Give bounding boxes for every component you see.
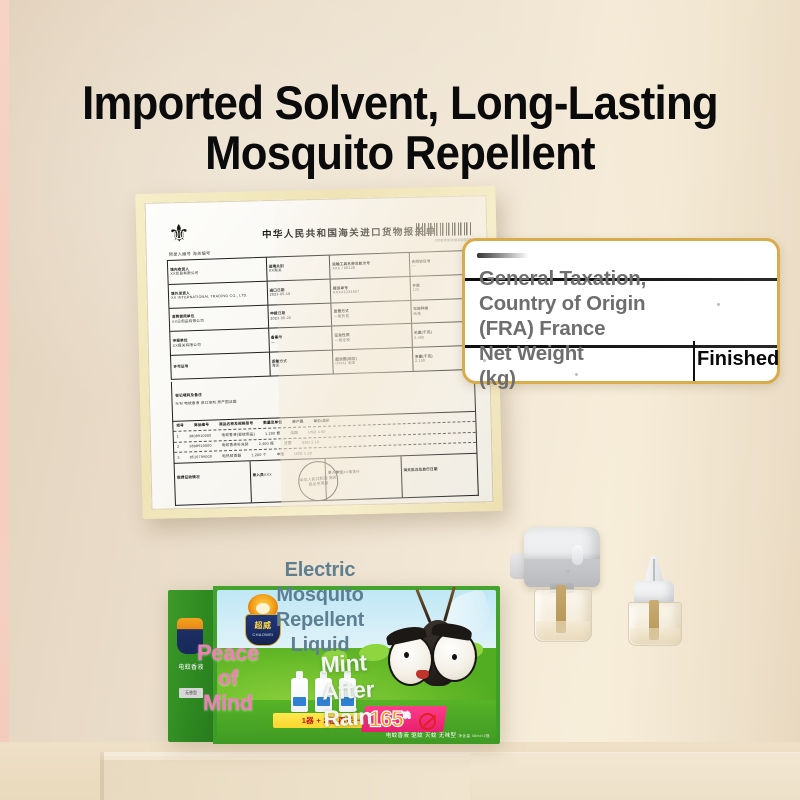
declaration-main-grid: 境内收货人XX贸易有限公司 境外发货人XX INTERNATIONAL TRAD… <box>167 250 475 380</box>
footer-label: 海关批注及放行日期 <box>403 467 437 472</box>
framed-customs-declaration: ⚜ 中华人民共和国海关进口货物报关单 0000000000000 预录入编号 海… <box>135 186 502 519</box>
pedestal-side-shadow <box>100 752 104 800</box>
box-bottom-text: 电蚊香液 驱蚊 灭蚊 无味型 净含量 45ml×2瓶 <box>386 731 490 739</box>
item-price: USD 1.20 <box>294 451 312 456</box>
item-no: 3 <box>177 455 179 460</box>
grid-column: 境内收货人XX贸易有限公司 境外发货人XX INTERNATIONAL TRAD… <box>168 258 270 379</box>
product-marketing-scene: Imported Solvent, Long-Lasting Mosquito … <box>0 0 800 800</box>
device-bottle-liquid <box>536 621 590 640</box>
overlay-peace-of-mind: Peace of Mind <box>173 640 283 715</box>
document-paper: ⚜ 中华人民共和国海关进口货物报关单 0000000000000 预录入编号 海… <box>145 195 494 510</box>
grid-cell: 申报单位XX报关有限公司 <box>170 329 268 356</box>
footer-value: XXX <box>264 473 272 477</box>
barcode <box>416 222 472 236</box>
grid-cell: 境内收货人XX贸易有限公司 <box>168 258 266 285</box>
grid-cell: 消费使用单位XX日用品有限公司 <box>169 305 267 332</box>
cell-value: XX海关 <box>269 267 328 274</box>
col-origin: 原产国 <box>292 420 304 425</box>
item-price: USD 2.10 <box>302 440 320 445</box>
callout-box: General Taxation, Country of Origin (FRA… <box>462 238 780 384</box>
note-value: N/M 电蚊香液 进口溶剂 原产国法国 <box>176 392 472 406</box>
col-no: 项号 <box>176 424 184 429</box>
grid-cell: 运输方式海运 <box>270 351 333 376</box>
grid-cell: 进境关别XX海关 <box>266 256 329 282</box>
item-price: USD 4.50 <box>308 429 326 434</box>
item-origin: 法国 <box>284 441 292 446</box>
grid-column: 进境关别XX海关 进口日期2023-05-18 申报日期2023-05-20 备… <box>266 256 333 376</box>
box-bottom-main: 电蚊香液 驱蚊 灭蚊 无味型 <box>386 733 457 739</box>
grid-cell: 申报日期2023-05-20 <box>268 303 331 329</box>
col-code: 商品编号 <box>194 423 209 428</box>
callout-dot <box>717 303 720 306</box>
left-accent-strip <box>0 0 9 800</box>
grid-cell: 备案号— <box>269 327 332 353</box>
grid-cell: 提运单号XXXX1234567 <box>331 277 410 303</box>
item-qty: 1,200 个 <box>251 452 266 457</box>
callout-smudge <box>477 253 529 258</box>
headline: Imported Solvent, Long-Lasting Mosquito … <box>28 78 772 178</box>
cell-value: 2023-05-18 <box>270 291 329 298</box>
item-qty: 2,400 瓶 <box>259 441 274 446</box>
grid-cell: 进口日期2023-05-18 <box>267 279 330 305</box>
cell-value: — <box>412 262 469 268</box>
overlay-mint-after-rain: Mint After Rain <box>320 644 464 732</box>
item-code: 3808910000 <box>189 443 212 448</box>
refill-bottle <box>622 556 688 646</box>
col-name: 商品名称及规格型号 <box>219 422 253 428</box>
customs-emblem-icon: ⚜ <box>166 221 193 248</box>
callout-net-weight: Net Weight (kg) <box>479 341 584 391</box>
col-price: 单价/总价 <box>314 419 331 424</box>
device-knob <box>572 545 583 565</box>
item-code: 3808910000 <box>189 433 212 438</box>
box-bottom-netcontent: 净含量 45ml×2瓶 <box>458 734 490 738</box>
footer-label: 录入员 <box>252 473 264 477</box>
document-title: 中华人民共和国海关进口货物报关单 <box>262 223 437 240</box>
cell-value: 120 <box>413 286 470 292</box>
grid-cell: 监管方式一般贸易 <box>331 301 410 327</box>
col-qty: 数量及单位 <box>263 421 282 426</box>
bottle-label <box>293 697 306 706</box>
item-origin: 中国 <box>277 452 285 457</box>
headline-line-2: Mosquito Repellent <box>28 128 772 178</box>
grid-column: 运输工具名称及航次号XXX / 0012E 提运单号XXXX1234567 监管… <box>330 253 413 374</box>
headline-line-1: Imported Solvent, Long-Lasting <box>28 78 772 128</box>
cell-label: 许可证号 <box>173 362 267 370</box>
item-no: 1 <box>177 434 179 439</box>
callout-finished-label: Finished <box>697 347 779 371</box>
footer-cell: 海关批注及放行日期 <box>401 454 478 497</box>
note-label: 标记唛码及备注 <box>175 393 202 398</box>
grid-cell: 境外发货人XX INTERNATIONAL TRADING CO., LTD. <box>169 282 267 309</box>
callout-general-taxation: General Taxation, <box>479 266 646 291</box>
refill-liquid <box>630 628 680 644</box>
document-content: ⚜ 中华人民共和国海关进口货物报关单 0000000000000 预录入编号 海… <box>145 195 494 510</box>
document-subline: 预录入编号 海关编号 <box>169 251 211 258</box>
cell-value: (FRA) 法国 <box>335 359 410 366</box>
footer-label: 税费征收情况 <box>177 475 200 480</box>
grid-cell: 运输工具名称及航次号XXX / 0012E <box>330 253 409 279</box>
item-name: 电蚊香液(驱蚊用品) <box>221 432 255 438</box>
cell-value: — <box>271 338 330 345</box>
footer-cell: 税费征收情况 <box>175 461 252 504</box>
cell-value: 海运 <box>272 362 331 369</box>
electric-vaporizer-device: ○ <box>516 523 611 645</box>
grid-cell: 许可证号 <box>171 353 269 379</box>
item-no: 2 <box>177 445 179 450</box>
item-qty: 1,200 套 <box>265 431 280 436</box>
item-name: 电蚊香液补充装 <box>222 442 249 447</box>
item-name: 电热蚊香器 <box>222 453 241 458</box>
callout-country-of-origin: Country of Origin (FRA) France <box>479 291 645 341</box>
item-code: 8516799000 <box>190 454 213 459</box>
box-art-bottle <box>291 678 308 712</box>
grid-cell: 征免性质一般征税 <box>332 324 411 350</box>
pedestal-front-face <box>100 760 470 800</box>
callout-vertical-rule <box>693 341 695 381</box>
grid-cell: 起运国(地区)(FRA) 法国 <box>333 348 412 373</box>
device-brand-mark: ○ <box>566 569 570 575</box>
refill-tip-line <box>653 559 655 583</box>
footer-value: XX报关行 <box>343 470 360 475</box>
cell-value: 2023-05-20 <box>270 315 329 322</box>
pedestal-edge <box>100 752 470 756</box>
item-origin: 法国 <box>290 430 298 435</box>
